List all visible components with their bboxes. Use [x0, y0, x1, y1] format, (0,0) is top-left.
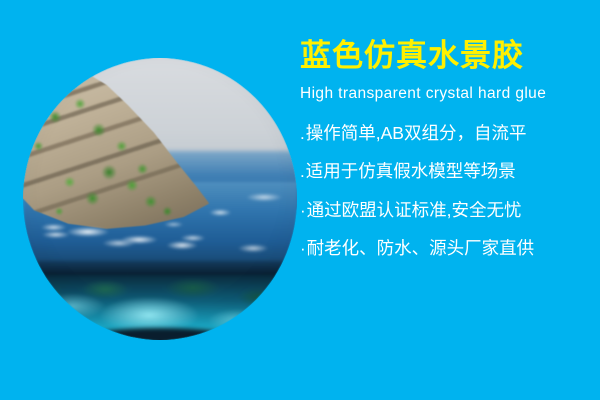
photo-vignette [23, 58, 297, 340]
bullet-dot-icon: · [300, 240, 306, 257]
bullet-dot-icon: . [300, 125, 305, 142]
bullet-dot-icon: . [300, 163, 305, 180]
bullet-dot-icon: · [300, 202, 306, 219]
feature-item-1-label: 操作简单,AB双组分，自流平 [306, 125, 527, 143]
feature-item-2-label: 适用于仿真假水模型等场景 [306, 163, 516, 181]
feature-item-4-label: 耐老化、防水、源头厂家直供 [307, 240, 535, 258]
feature-list: . 操作简单,AB双组分，自流平 . 适用于仿真假水模型等场景 · 通过欧盟认证… [300, 125, 592, 258]
product-photo-circle [23, 58, 297, 340]
feature-item-3-label: 通过欧盟认证标准,安全无忧 [307, 202, 522, 220]
text-column: 蓝色仿真水景胶 High transparent crystal hard gl… [300, 38, 592, 279]
feature-item-3: · 通过欧盟认证标准,安全无忧 [300, 202, 592, 220]
product-banner: 蓝色仿真水景胶 High transparent crystal hard gl… [0, 0, 600, 400]
feature-item-2: . 适用于仿真假水模型等场景 [300, 163, 592, 181]
headline-title: 蓝色仿真水景胶 [300, 38, 592, 74]
subheadline-english: High transparent crystal hard glue [300, 85, 592, 103]
feature-item-1: . 操作简单,AB双组分，自流平 [300, 125, 592, 143]
feature-item-4: · 耐老化、防水、源头厂家直供 [300, 240, 592, 258]
diorama-scene [23, 58, 297, 340]
